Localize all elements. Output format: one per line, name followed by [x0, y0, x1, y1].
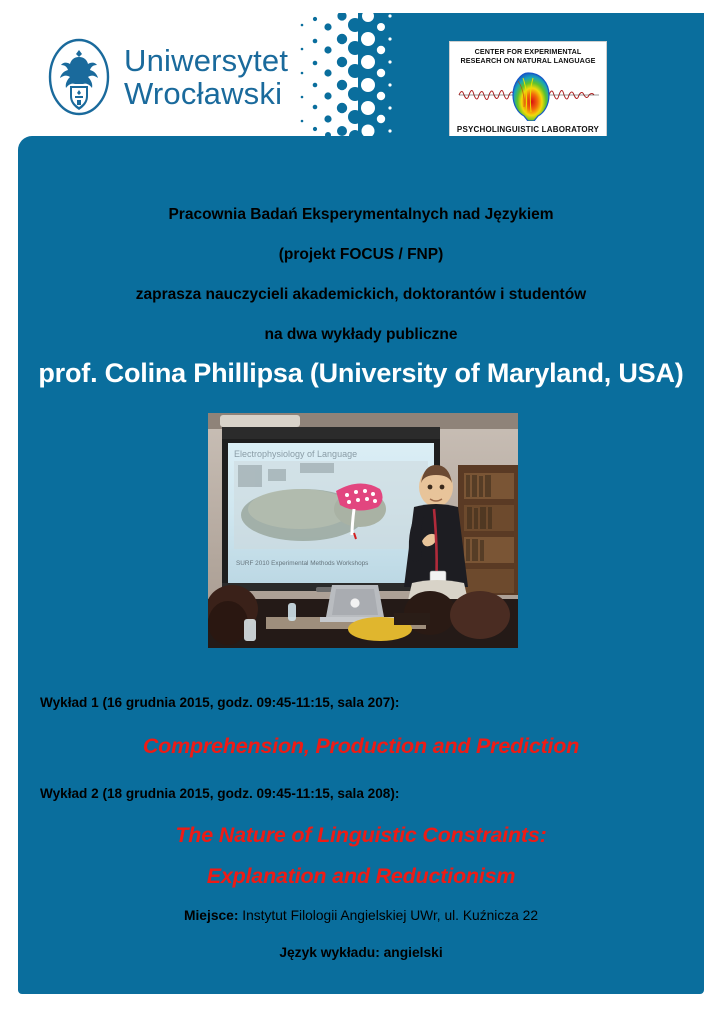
- venue-label: Miejsce:: [184, 908, 238, 923]
- invitation-line-2: (projekt FOCUS / FNP): [18, 246, 704, 264]
- svg-text:Electrophysiology of Language: Electrophysiology of Language: [234, 449, 357, 459]
- venue-line: Miejsce: Instytut Filologii Angielskiej …: [18, 908, 704, 923]
- speaker-name: prof. Colina Phillipsa (University of Ma…: [18, 358, 704, 389]
- lecture-1-meta: Wykład 1 (16 grudnia 2015, godz. 09:45-1…: [40, 695, 704, 710]
- university-logo-text: Uniwersytet Wrocławski: [124, 44, 288, 110]
- uwr-eagle-crest-icon: [48, 38, 110, 116]
- lecture-2-title-line-1: The Nature of Linguistic Constraints:: [18, 823, 704, 848]
- svg-text:SURF 2010 Experimental Methods: SURF 2010 Experimental Methods Workshops: [236, 560, 368, 567]
- university-logo-line1: Uniwersytet: [124, 44, 288, 77]
- invitation-line-1: Pracownia Badań Eksperymentalnych nad Ję…: [18, 206, 704, 224]
- venue-value: Instytut Filologii Angielskiej UWr, ul. …: [238, 908, 538, 923]
- lab-logo-line1: CENTER FOR EXPERIMENTAL: [460, 47, 595, 56]
- poster-header: Uniwersytet Wrocławski CENTER FOR EXPERI…: [0, 0, 725, 136]
- lecture-1-title: Comprehension, Production and Prediction: [18, 734, 704, 759]
- lecture-2-meta: Wykład 2 (18 grudnia 2015, godz. 09:45-1…: [40, 786, 704, 801]
- language-line: Język wykładu: angielski: [18, 945, 704, 960]
- invitation-line-4: na dwa wykłady publiczne: [18, 326, 704, 344]
- brain-heatmap-eeg-waveform-icon: [453, 69, 603, 121]
- lecture-photo: Electrophysiology of Language: [208, 413, 518, 648]
- poster: Uniwersytet Wrocławski CENTER FOR EXPERI…: [0, 0, 725, 1024]
- university-logo-line2: Wrocławski: [124, 77, 288, 110]
- lab-logo-bottom-text: PSYCHOLINGUISTIC LABORATORY: [457, 125, 599, 134]
- lecture-2-title-line-2: Explanation and Reductionism: [18, 864, 704, 889]
- lab-logo-top-text: CENTER FOR EXPERIMENTAL RESEARCH ON NATU…: [460, 47, 595, 65]
- lab-logo-line2: RESEARCH ON NATURAL LANGUAGE: [460, 56, 595, 65]
- psycholinguistic-lab-logo: CENTER FOR EXPERIMENTAL RESEARCH ON NATU…: [449, 41, 607, 139]
- main-blue-panel: Pracownia Badań Eksperymentalnych nad Ję…: [18, 136, 704, 994]
- invitation-line-3: zaprasza nauczycieli akademickich, dokto…: [18, 286, 704, 304]
- university-logo: Uniwersytet Wrocławski: [48, 36, 283, 118]
- halftone-dot-gradient: [296, 13, 392, 136]
